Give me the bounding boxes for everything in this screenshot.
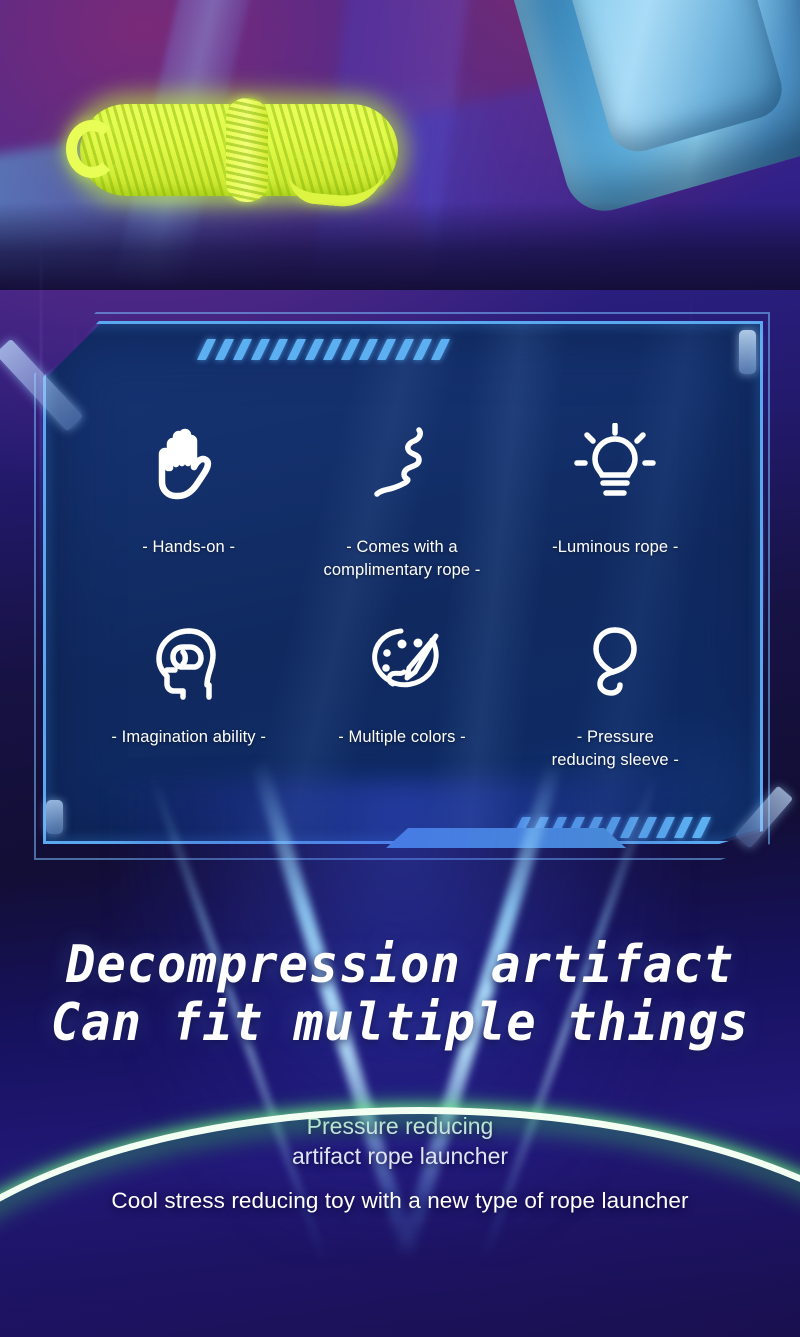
feature-item-luminous-rope: -Luminous rope - [509,404,722,614]
feature-label: - Comes with a complimentary rope - [324,536,481,582]
feature-label: -Luminous rope - [552,536,678,559]
squiggly-rope-icon [367,404,437,524]
bottom-tint [0,1217,800,1337]
head-brain-icon [149,614,229,714]
feature-label: - Hands-on - [142,536,235,559]
hatch-marks-top [202,339,445,360]
glowing-rope-icon [80,104,398,196]
corner-tab-top-right [739,330,756,374]
balloon-icon [584,614,646,714]
feature-label: - Imagination ability - [111,726,266,749]
page-title: Decompression artifact Can fit multiple … [24,936,776,1052]
feature-label: - Multiple colors - [338,726,466,749]
rope-band [226,98,268,202]
poster-stage: - Hands-on - - Comes with a complimentar… [0,0,800,1337]
feature-item-complimentary-rope: - Comes with a complimentary rope - [295,404,508,614]
rope-loop [66,120,118,178]
palette-icon [360,614,444,714]
feature-item-hands-on: - Hands-on - [82,404,295,614]
hand-icon [151,404,227,524]
headline-line-2: Can fit multiple things [24,994,776,1052]
headline-line-1: Decompression artifact [66,935,734,995]
lightbulb-icon [573,404,657,524]
